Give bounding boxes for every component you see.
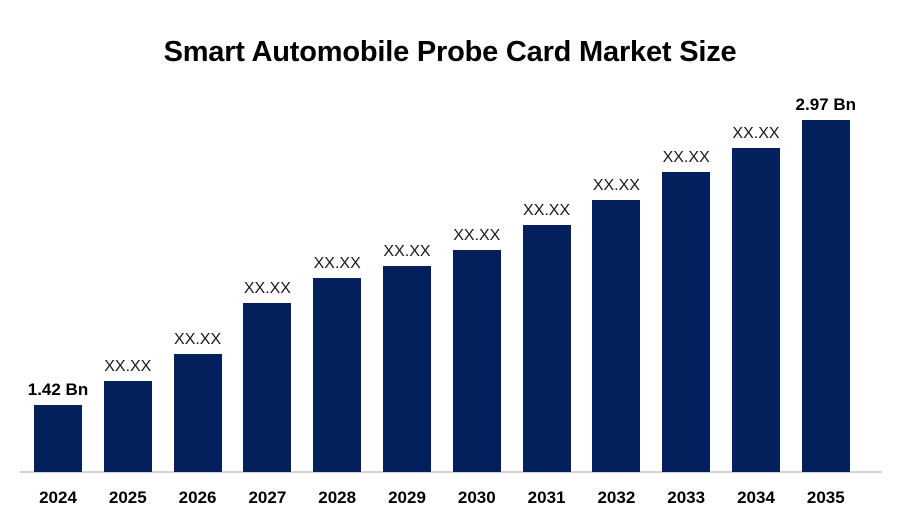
- x-axis-tick-label: 2032: [581, 488, 651, 508]
- bar-value-label: XX.XX: [575, 177, 657, 195]
- bar[interactable]: [313, 278, 361, 472]
- x-axis-tick-label: 2026: [163, 488, 233, 508]
- bar-group: 2.97 Bn2035: [791, 0, 861, 525]
- bar-group: XX.XX2034: [721, 0, 791, 525]
- bar-value-label: XX.XX: [157, 331, 239, 349]
- x-axis-tick-label: 2030: [442, 488, 512, 508]
- bar-chart-figure: Smart Automobile Probe Card Market Size …: [0, 0, 900, 525]
- bar-value-label: XX.XX: [366, 243, 448, 261]
- bar-value-label: XX.XX: [506, 202, 588, 220]
- x-axis-tick-label: 2025: [93, 488, 163, 508]
- bar[interactable]: [243, 303, 291, 472]
- x-axis-tick-label: 2033: [651, 488, 721, 508]
- plot-area: 1.42 Bn2024XX.XX2025XX.XX2026XX.XX2027XX…: [0, 0, 900, 525]
- bar[interactable]: [732, 148, 780, 472]
- bar-value-label: 2.97 Bn: [785, 95, 867, 115]
- bar[interactable]: [592, 200, 640, 472]
- bar[interactable]: [453, 250, 501, 472]
- bar-value-label: XX.XX: [715, 125, 797, 143]
- bar-group: XX.XX2030: [442, 0, 512, 525]
- bar-group: XX.XX2031: [512, 0, 582, 525]
- x-axis-tick-label: 2027: [232, 488, 302, 508]
- bar[interactable]: [104, 381, 152, 472]
- bar[interactable]: [662, 172, 710, 472]
- bar[interactable]: [383, 266, 431, 472]
- bar[interactable]: [523, 225, 571, 472]
- x-axis-tick-label: 2034: [721, 488, 791, 508]
- x-axis-tick-label: 2024: [23, 488, 93, 508]
- bar-group: XX.XX2025: [93, 0, 163, 525]
- bar-value-label: XX.XX: [436, 227, 518, 245]
- bar-value-label: 1.42 Bn: [17, 380, 99, 400]
- x-axis-tick-label: 2035: [791, 488, 861, 508]
- bar-group: XX.XX2028: [302, 0, 372, 525]
- x-axis-tick-label: 2028: [302, 488, 372, 508]
- bar[interactable]: [802, 120, 850, 472]
- x-axis-tick-label: 2029: [372, 488, 442, 508]
- bar[interactable]: [174, 354, 222, 472]
- bar-group: XX.XX2033: [651, 0, 721, 525]
- x-axis-tick-label: 2031: [512, 488, 582, 508]
- bar-group: XX.XX2029: [372, 0, 442, 525]
- bar[interactable]: [34, 405, 82, 472]
- bar-value-label: XX.XX: [226, 280, 308, 298]
- bar-group: 1.42 Bn2024: [23, 0, 93, 525]
- bar-group: XX.XX2026: [163, 0, 233, 525]
- bar-group: XX.XX2032: [581, 0, 651, 525]
- bar-value-label: XX.XX: [645, 149, 727, 167]
- bar-value-label: XX.XX: [87, 358, 169, 376]
- bar-group: XX.XX2027: [232, 0, 302, 525]
